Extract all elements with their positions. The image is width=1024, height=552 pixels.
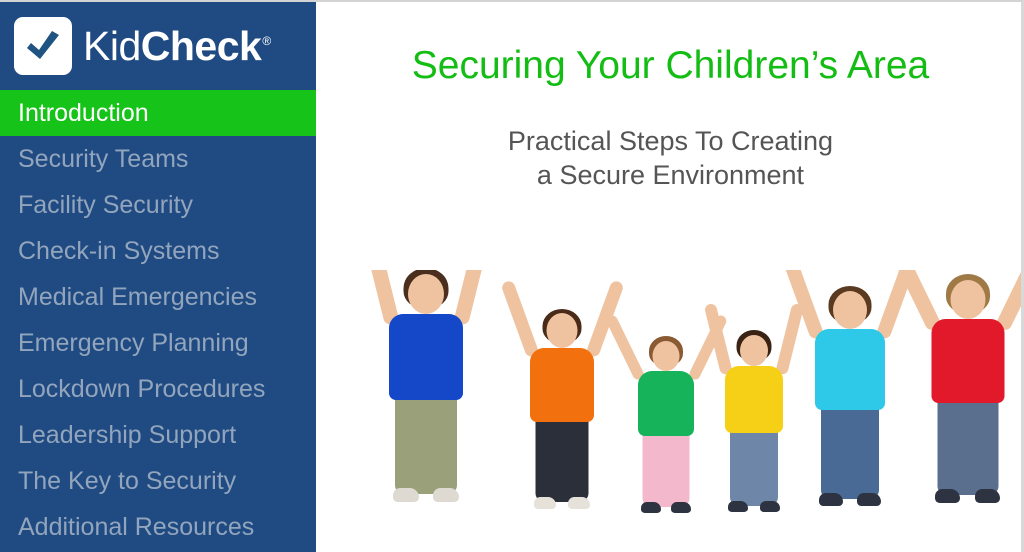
sidebar-item-introduction[interactable]: Introduction — [0, 90, 316, 136]
sidebar-item-label: Additional Resources — [18, 513, 254, 542]
child-shoe — [433, 488, 459, 502]
sidebar-item-label: Emergency Planning — [18, 329, 249, 358]
sidebar-item-label: Introduction — [18, 99, 149, 128]
registered-trademark-icon: ® — [262, 34, 270, 48]
child-shoe — [857, 493, 881, 506]
child-shoe — [534, 497, 556, 509]
page-title: Securing Your Children’s Area — [320, 44, 1021, 88]
child-pants — [536, 413, 589, 502]
child-pants — [821, 401, 879, 499]
sidebar-item-leadership-support[interactable]: Leadership Support — [0, 412, 316, 458]
subtitle-line-2: a Secure Environment — [320, 158, 1021, 192]
child-head — [740, 335, 768, 366]
child-shirt — [815, 329, 885, 410]
brand-name-check: Check — [141, 23, 262, 69]
sidebar-item-emergency-planning[interactable]: Emergency Planning — [0, 320, 316, 366]
page-subtitle: Practical Steps To Creating a Secure Env… — [320, 124, 1021, 192]
sidebar-item-medical-emergencies[interactable]: Medical Emergencies — [0, 274, 316, 320]
sidebar-item-check-in-systems[interactable]: Check-in Systems — [0, 228, 316, 274]
child-pants — [395, 390, 457, 494]
child-shirt — [725, 366, 783, 433]
child-figure — [508, 310, 616, 552]
sidebar-navigation: KidCheck® Introduction Security Teams Fa… — [0, 2, 316, 552]
sidebar-item-additional-resources[interactable]: Additional Resources — [0, 504, 316, 550]
nav-list: Introduction Security Teams Facility Sec… — [0, 90, 316, 550]
child-shoe — [728, 501, 748, 512]
jumping-children-photo — [340, 270, 1021, 552]
sidebar-item-facility-security[interactable]: Facility Security — [0, 182, 316, 228]
presentation-slide: KidCheck® Introduction Security Teams Fa… — [0, 0, 1024, 552]
child-pants — [938, 393, 999, 495]
child-figure — [906, 276, 1021, 552]
sidebar-item-label: The Key to Security — [18, 467, 236, 496]
child-head — [408, 274, 444, 314]
sidebar-item-the-key-to-security[interactable]: The Key to Security — [0, 458, 316, 504]
child-shoe — [393, 488, 419, 502]
sidebar-item-lockdown-procedures[interactable]: Lockdown Procedures — [0, 366, 316, 412]
child-shoe — [975, 489, 1000, 503]
child-shoe — [568, 497, 590, 509]
child-shoe — [760, 501, 780, 512]
sidebar-item-label: Lockdown Procedures — [18, 375, 265, 404]
sidebar-item-security-teams[interactable]: Security Teams — [0, 136, 316, 182]
child-shoe — [671, 502, 691, 513]
checkmark-icon — [14, 17, 72, 75]
child-figure — [362, 270, 490, 552]
child-shoe — [819, 493, 843, 506]
sidebar-item-label: Leadership Support — [18, 421, 236, 450]
sidebar-item-label: Medical Emergencies — [18, 283, 257, 312]
brand-logo[interactable]: KidCheck® — [0, 2, 316, 90]
child-shirt — [638, 371, 694, 436]
child-figure — [618, 338, 714, 552]
sidebar-item-label: Facility Security — [18, 191, 193, 220]
slide-content: Securing Your Children’s Area Practical … — [320, 2, 1021, 552]
child-figure — [706, 332, 802, 552]
child-head — [653, 341, 680, 371]
child-figure — [792, 287, 908, 552]
child-arm — [500, 280, 539, 359]
child-shirt — [530, 348, 594, 422]
child-head — [951, 280, 986, 319]
child-shoe — [935, 489, 960, 503]
child-pants — [730, 425, 778, 506]
subtitle-line-1: Practical Steps To Creating — [320, 124, 1021, 158]
child-head — [547, 313, 578, 348]
brand-wordmark: KidCheck® — [83, 26, 271, 67]
child-shirt — [389, 314, 463, 400]
child-shirt — [932, 319, 1005, 403]
sidebar-item-label: Check-in Systems — [18, 237, 219, 266]
sidebar-item-label: Security Teams — [18, 145, 188, 174]
child-shoe — [641, 502, 661, 513]
brand-name-kid: Kid — [83, 23, 141, 69]
child-pants — [643, 428, 690, 507]
child-head — [833, 291, 867, 329]
